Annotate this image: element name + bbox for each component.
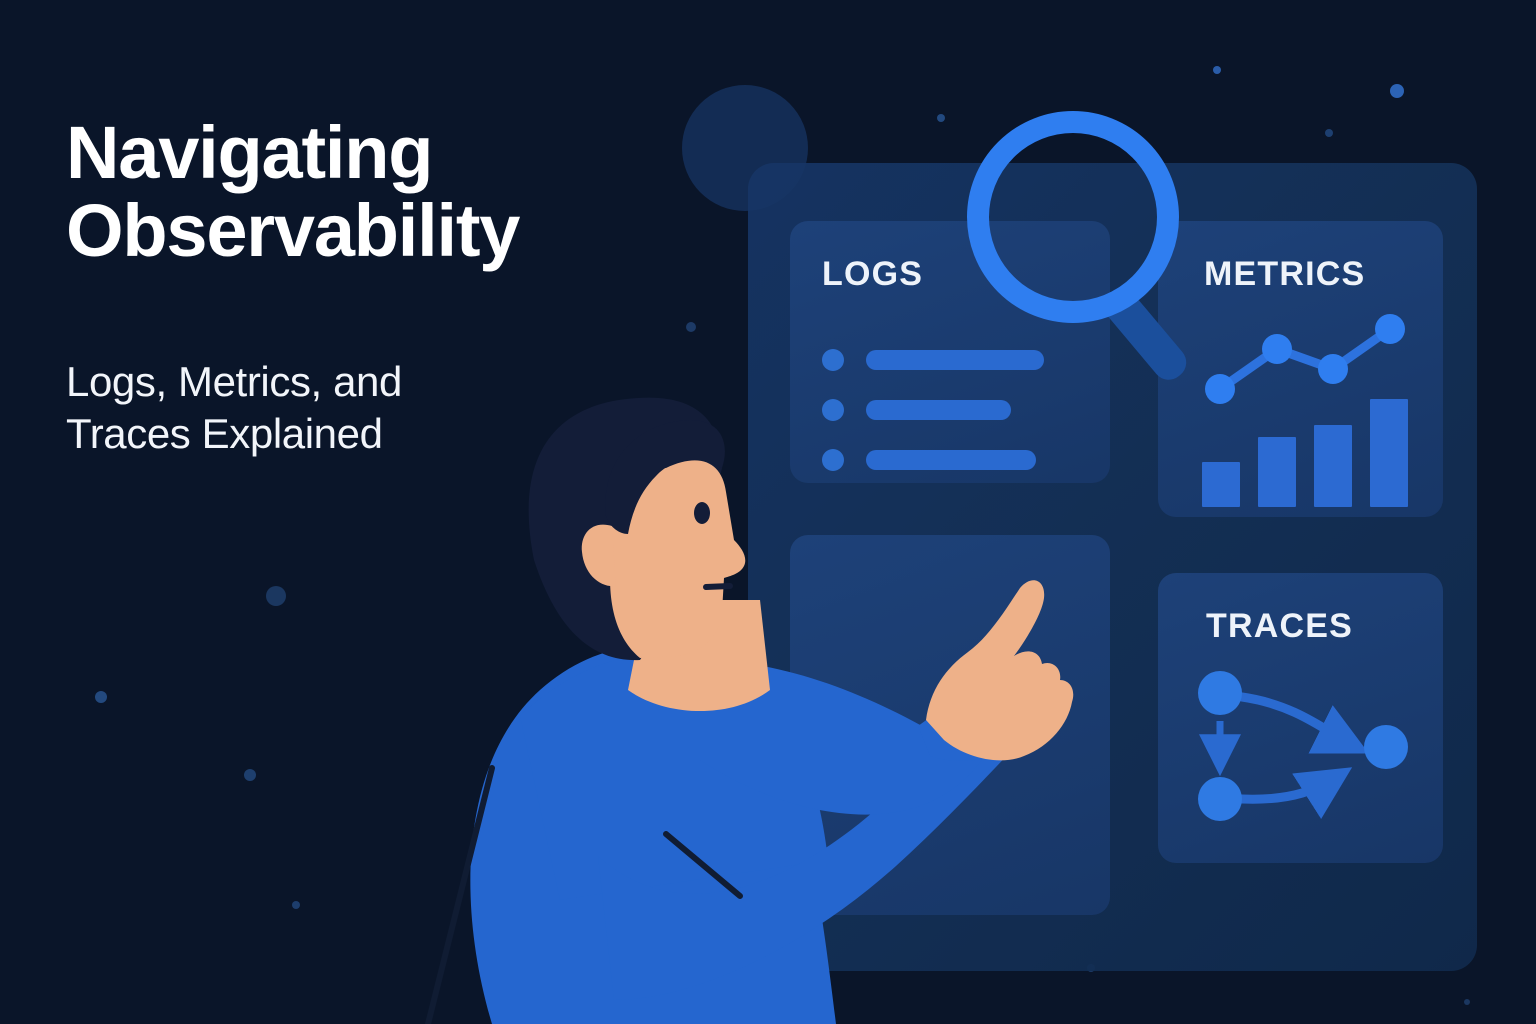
card-traces-title: TRACES [1206, 607, 1353, 646]
person-eye [694, 502, 710, 524]
shirt-crease-right [666, 834, 740, 896]
decorative-dot [686, 322, 696, 332]
decorative-dot [95, 691, 107, 703]
decorative-dot [937, 114, 945, 122]
dashboard-panel: LOGS METRICS [748, 163, 1477, 971]
decorative-dot [1325, 129, 1333, 137]
log-bullet-icon [822, 349, 844, 371]
person-ear [582, 525, 616, 587]
card-metrics-title: METRICS [1204, 255, 1365, 294]
trace-nodes [1198, 671, 1408, 821]
metrics-bar-series [1202, 399, 1408, 507]
decorative-dot [1464, 999, 1470, 1005]
card-metrics[interactable]: METRICS [1158, 221, 1443, 517]
card-logs-title: LOGS [822, 255, 923, 294]
decorative-dot [1390, 84, 1404, 98]
card-logs[interactable]: LOGS [790, 221, 1110, 483]
log-bar [866, 400, 1011, 420]
person-mouth [706, 586, 730, 587]
metrics-line-series [1220, 329, 1390, 389]
log-bar [866, 450, 1036, 470]
metrics-chart [1158, 307, 1443, 517]
page-subtitle: Logs, Metrics, and Traces Explained [66, 356, 626, 460]
log-row [822, 349, 1044, 371]
trace-edge-curve-lower [1242, 775, 1340, 799]
decorative-dot [292, 901, 300, 909]
decorative-dot [266, 586, 286, 606]
shirt-crease-left [428, 768, 492, 1024]
log-bar [866, 350, 1044, 370]
log-bullet-icon [822, 399, 844, 421]
log-row [822, 449, 1036, 471]
trace-edge-curve-upper [1242, 697, 1356, 747]
trace-node-child [1198, 777, 1242, 821]
card-blank[interactable] [790, 535, 1110, 915]
traces-graph [1158, 673, 1443, 873]
person-face [610, 460, 745, 658]
decorative-dot [1213, 66, 1221, 74]
trace-node-sink [1364, 725, 1408, 769]
decorative-dot [244, 769, 256, 781]
log-row [822, 399, 1011, 421]
illustration-canvas: Navigating Observability Logs, Metrics, … [0, 0, 1536, 1024]
log-bullet-icon [822, 449, 844, 471]
page-title: Navigating Observability [66, 114, 706, 270]
trace-node-root [1198, 671, 1242, 715]
card-traces[interactable]: TRACES [1158, 573, 1443, 863]
